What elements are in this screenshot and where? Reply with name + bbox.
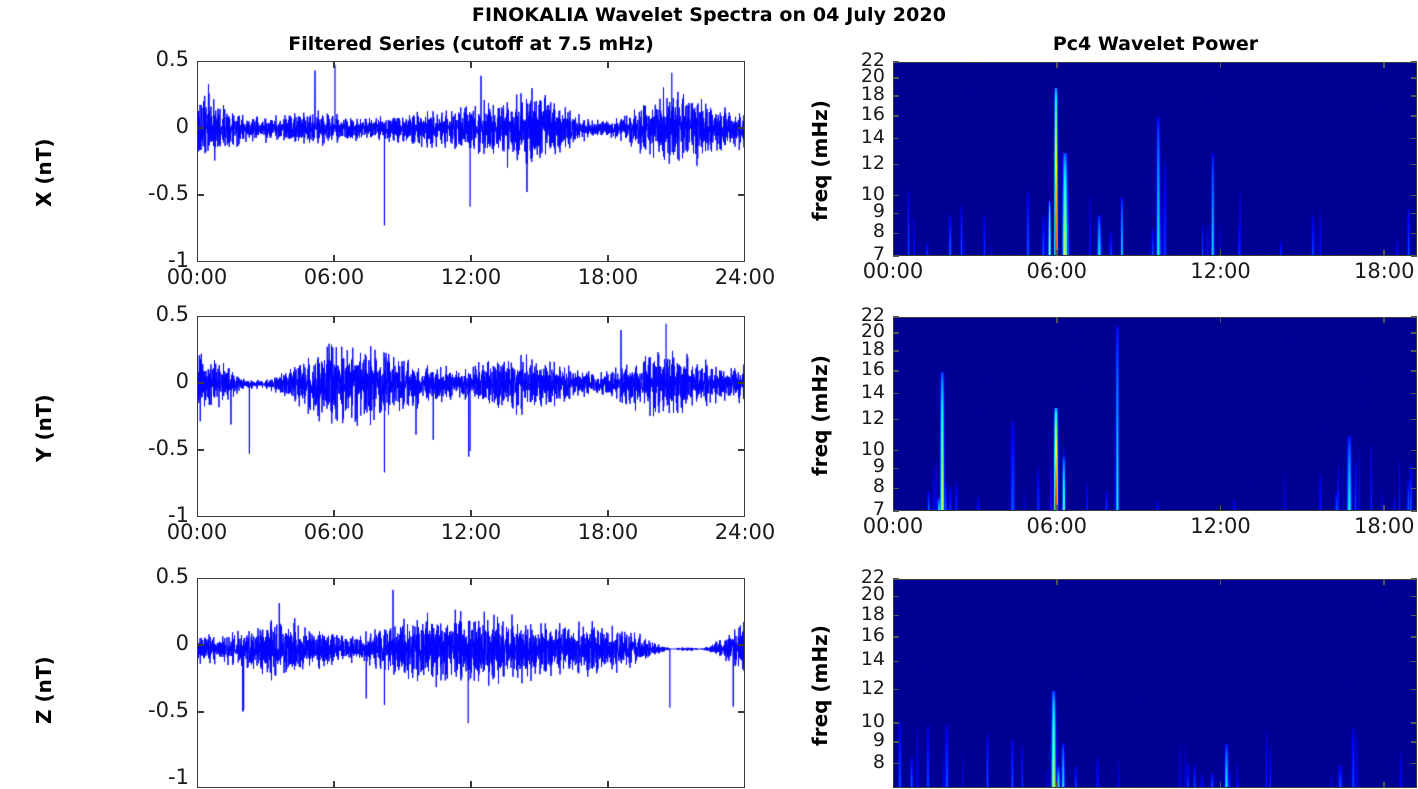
sp-xtick-x: [1383, 62, 1385, 68]
sp-xtick-bot-y: [1220, 505, 1222, 511]
freqtick-y: [893, 332, 899, 334]
freqtick-x: [893, 195, 899, 197]
freqtick-x: [893, 61, 899, 63]
spectrogram-plot-x: [894, 63, 1417, 256]
axis-title-y-component: Y (nT): [32, 394, 56, 462]
xtick-top-y: [470, 316, 472, 323]
freqtick-right-x: [1411, 255, 1417, 257]
sp-xtick-z: [1056, 579, 1058, 585]
freqtick-x: [893, 233, 899, 235]
ytick-right-y: [738, 449, 745, 451]
ytick-label-z-3: -1: [99, 767, 189, 788]
right-column-title: Pc4 Wavelet Power: [893, 33, 1418, 55]
axis-title-x-component: X (nT): [32, 138, 56, 207]
ytick-y: [197, 449, 204, 451]
ytick-label-z-2: -0.5: [99, 700, 189, 721]
sp-xtick-label-x-3: 18:00: [1322, 261, 1418, 282]
freqtick-y: [893, 316, 899, 318]
ytick-z: [197, 644, 204, 646]
freqtick-right-z: [1411, 636, 1417, 638]
xtick-z: [470, 781, 472, 788]
xtick-top-x: [607, 61, 609, 68]
freqtick-label-z-2: 18: [831, 605, 885, 624]
axis-title-z-component: Z (nT): [32, 656, 56, 724]
sp-xtick-y: [1056, 317, 1058, 323]
freqtick-label-z-7: 9: [831, 731, 885, 750]
freqtick-right-x: [1411, 61, 1417, 63]
freqtick-label-z-1: 20: [831, 585, 885, 604]
freqtick-z: [893, 661, 899, 663]
freqtick-right-x: [1411, 95, 1417, 97]
sp-xtick-label-y-0: 00:00: [831, 516, 955, 537]
xtick-label-y-4: 24:00: [683, 522, 807, 543]
sp-xtick-bot-x: [1056, 250, 1058, 256]
freqtick-z: [893, 722, 899, 724]
freqtick-x: [893, 138, 899, 140]
freqtick-label-y-3: 16: [831, 360, 885, 379]
xtick-y: [607, 510, 609, 517]
xtick-top-z: [607, 578, 609, 585]
xtick-label-x-2: 12:00: [409, 267, 533, 288]
freqtick-z: [893, 741, 899, 743]
xtick-y: [470, 510, 472, 517]
freqtick-z: [893, 596, 899, 598]
freqtick-label-z-8: 8: [831, 753, 885, 772]
sp-xtick-bot-y: [1056, 505, 1058, 511]
xtick-top-x: [470, 61, 472, 68]
sp-xtick-x: [1220, 62, 1222, 68]
sp-xtick-label-x-0: 00:00: [831, 261, 955, 282]
sp-xtick-label-y-2: 12:00: [1159, 516, 1283, 537]
ytick-right-y: [738, 382, 745, 384]
freqtick-right-y: [1411, 316, 1417, 318]
freqtick-right-y: [1411, 450, 1417, 452]
xtick-top-x: [333, 61, 335, 68]
freqtick-label-z-4: 14: [831, 650, 885, 669]
xtick-z: [607, 781, 609, 788]
freqtick-label-x-2: 18: [831, 85, 885, 104]
spectrogram-plot-z: [894, 580, 1417, 788]
ytick-z: [197, 711, 204, 713]
freqtick-y: [893, 350, 899, 352]
ytick-right-z: [738, 711, 745, 713]
xtick-label-y-3: 18:00: [546, 522, 670, 543]
freqtick-right-z: [1411, 596, 1417, 598]
figure-suptitle: FINOKALIA Wavelet Spectra on 04 July 202…: [0, 4, 1418, 26]
freqtick-y: [893, 393, 899, 395]
freqtick-label-y-8: 8: [831, 477, 885, 496]
freqtick-right-z: [1411, 722, 1417, 724]
freqtick-right-x: [1411, 77, 1417, 79]
axis-title-freq-z: freq (mHz): [808, 625, 832, 746]
left-column-title: Filtered Series (cutoff at 7.5 mHz): [197, 33, 745, 55]
ytick-label-x-1: 0: [99, 116, 189, 137]
xtick-top-z: [333, 578, 335, 585]
freqtick-right-x: [1411, 138, 1417, 140]
freqtick-x: [893, 115, 899, 117]
freqtick-right-x: [1411, 213, 1417, 215]
ytick-x: [197, 194, 204, 196]
freqtick-right-z: [1411, 689, 1417, 691]
freqtick-right-x: [1411, 115, 1417, 117]
ytick-x: [197, 127, 204, 129]
sp-xtick-bot-z: [1220, 782, 1222, 788]
sp-xtick-label-x-1: 06:00: [995, 261, 1119, 282]
freqtick-z: [893, 763, 899, 765]
freqtick-right-y: [1411, 488, 1417, 490]
figure-canvas: FINOKALIA Wavelet Spectra on 04 July 202…: [0, 0, 1418, 788]
ytick-right-x: [738, 194, 745, 196]
timeseries-plot-z: [198, 579, 745, 788]
freqtick-z: [893, 689, 899, 691]
timeseries-plot-x: [198, 62, 745, 262]
freqtick-label-x-5: 12: [831, 154, 885, 173]
sp-xtick-x: [1056, 62, 1058, 68]
freqtick-label-z-3: 16: [831, 626, 885, 645]
freqtick-label-y-7: 9: [831, 457, 885, 476]
freqtick-right-y: [1411, 468, 1417, 470]
freqtick-right-z: [1411, 615, 1417, 617]
freqtick-x: [893, 164, 899, 166]
sp-xtick-z: [1383, 579, 1385, 585]
freqtick-right-y: [1411, 350, 1417, 352]
xtick-x: [333, 255, 335, 262]
freqtick-label-z-6: 10: [831, 712, 885, 731]
freqtick-right-y: [1411, 510, 1417, 512]
xtick-x: [470, 255, 472, 262]
freqtick-right-z: [1411, 741, 1417, 743]
freqtick-label-x-4: 14: [831, 128, 885, 147]
ytick-right-x: [738, 127, 745, 129]
ytick-y: [197, 382, 204, 384]
freqtick-y: [893, 419, 899, 421]
sp-xtick-bot-z: [1056, 782, 1058, 788]
sp-xtick-y: [1220, 317, 1222, 323]
xtick-z: [333, 781, 335, 788]
freqtick-right-z: [1411, 763, 1417, 765]
xtick-top-y: [607, 316, 609, 323]
ytick-label-y-0: 0.5: [99, 304, 189, 325]
timeseries-axes-x: [197, 61, 745, 262]
freqtick-x: [893, 213, 899, 215]
xtick-label-y-1: 06:00: [272, 522, 396, 543]
freqtick-label-z-5: 12: [831, 679, 885, 698]
freqtick-right-y: [1411, 370, 1417, 372]
axis-title-freq-y: freq (mHz): [808, 355, 832, 476]
sp-xtick-bot-y: [1383, 505, 1385, 511]
freqtick-x: [893, 255, 899, 257]
freqtick-label-y-5: 12: [831, 409, 885, 428]
freqtick-x: [893, 95, 899, 97]
freqtick-right-y: [1411, 332, 1417, 334]
ytick-label-z-0: 0.5: [99, 566, 189, 587]
sp-xtick-label-y-3: 18:00: [1322, 516, 1418, 537]
freqtick-label-x-7: 9: [831, 202, 885, 221]
spectrogram-axes-y: [893, 317, 1417, 511]
sp-xtick-z: [1220, 579, 1222, 585]
xtick-y: [333, 510, 335, 517]
freqtick-y: [893, 450, 899, 452]
xtick-x: [607, 255, 609, 262]
xtick-label-x-4: 24:00: [683, 267, 807, 288]
xtick-label-y-0: 00:00: [135, 522, 259, 543]
freqtick-label-x-3: 16: [831, 105, 885, 124]
sp-xtick-y: [1383, 317, 1385, 323]
freqtick-right-y: [1411, 419, 1417, 421]
sp-xtick-bot-x: [1220, 250, 1222, 256]
ytick-right-z: [738, 644, 745, 646]
freqtick-right-z: [1411, 578, 1417, 580]
freqtick-right-x: [1411, 195, 1417, 197]
sp-xtick-label-y-1: 06:00: [995, 516, 1119, 537]
freqtick-x: [893, 77, 899, 79]
timeseries-plot-y: [198, 317, 745, 517]
xtick-label-x-1: 06:00: [272, 267, 396, 288]
xtick-label-x-3: 18:00: [546, 267, 670, 288]
ytick-label-y-1: 0: [99, 371, 189, 392]
freqtick-y: [893, 488, 899, 490]
sp-xtick-bot-x: [1383, 250, 1385, 256]
freqtick-right-x: [1411, 233, 1417, 235]
freqtick-label-x-8: 8: [831, 222, 885, 241]
axis-title-freq-x: freq (mHz): [808, 100, 832, 221]
timeseries-axes-y: [197, 316, 745, 517]
freqtick-y: [893, 510, 899, 512]
spectrogram-axes-x: [893, 62, 1417, 256]
freqtick-right-x: [1411, 164, 1417, 166]
timeseries-axes-z: [197, 578, 745, 788]
xtick-top-z: [470, 578, 472, 585]
freqtick-z: [893, 636, 899, 638]
ytick-label-z-1: 0: [99, 633, 189, 654]
freqtick-y: [893, 370, 899, 372]
xtick-label-x-0: 00:00: [135, 267, 259, 288]
sp-xtick-label-x-2: 12:00: [1159, 261, 1283, 282]
sp-xtick-bot-z: [1383, 782, 1385, 788]
freqtick-right-z: [1411, 661, 1417, 663]
freqtick-right-y: [1411, 393, 1417, 395]
xtick-label-y-2: 12:00: [409, 522, 533, 543]
ytick-label-x-2: -0.5: [99, 183, 189, 204]
freqtick-label-y-2: 18: [831, 340, 885, 359]
freqtick-z: [893, 615, 899, 617]
freqtick-z: [893, 578, 899, 580]
freqtick-y: [893, 468, 899, 470]
spectrogram-plot-y: [894, 318, 1417, 511]
spectrogram-axes-z: [893, 579, 1417, 788]
freqtick-label-y-4: 14: [831, 383, 885, 402]
xtick-top-y: [333, 316, 335, 323]
ytick-label-x-0: 0.5: [99, 49, 189, 70]
ytick-label-y-2: -0.5: [99, 438, 189, 459]
